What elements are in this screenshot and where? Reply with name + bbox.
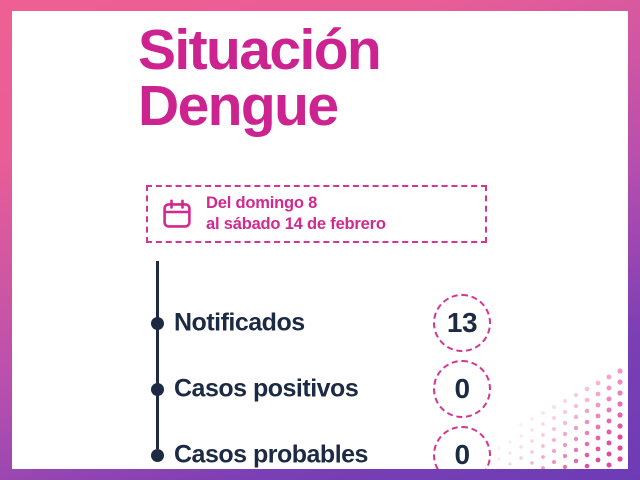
poster-canvas: Situación Dengue Del domingo 8 al sábado… [12,11,628,469]
bullet-dot-icon [151,383,164,396]
metric-value: 0 [454,375,469,403]
metric-row-notificados: Notificados 13 [12,290,628,356]
metric-row-casos-probables: Casos probables 0 [12,422,628,469]
calendar-icon [162,199,192,229]
bullet-dot-icon [151,449,164,462]
date-range-line-1: Del domingo 8 [206,193,386,214]
metric-value-badge: 0 [433,360,491,418]
metric-value: 13 [447,309,477,337]
date-range-text: Del domingo 8 al sábado 14 de febrero [206,193,386,235]
title-line-2: Dengue [138,79,538,135]
metric-label: Notificados [174,309,305,338]
bullet-dot-icon [151,317,164,330]
metric-label: Casos probables [174,441,368,470]
date-range-line-2: al sábado 14 de febrero [206,214,386,235]
metric-value-badge: 0 [433,426,491,469]
metric-value: 0 [454,441,469,469]
metric-value-badge: 13 [433,294,491,352]
metric-row-casos-positivos: Casos positivos 0 [12,356,628,422]
date-range-box: Del domingo 8 al sábado 14 de febrero [146,185,487,243]
dengue-situation-poster: Situación Dengue Del domingo 8 al sábado… [0,0,640,480]
metrics-list: Notificados 13 Casos positivos 0 Casos p… [12,290,628,469]
title-line-1: Situación [138,23,538,79]
metric-label: Casos positivos [174,375,358,404]
page-title: Situación Dengue [138,23,538,135]
